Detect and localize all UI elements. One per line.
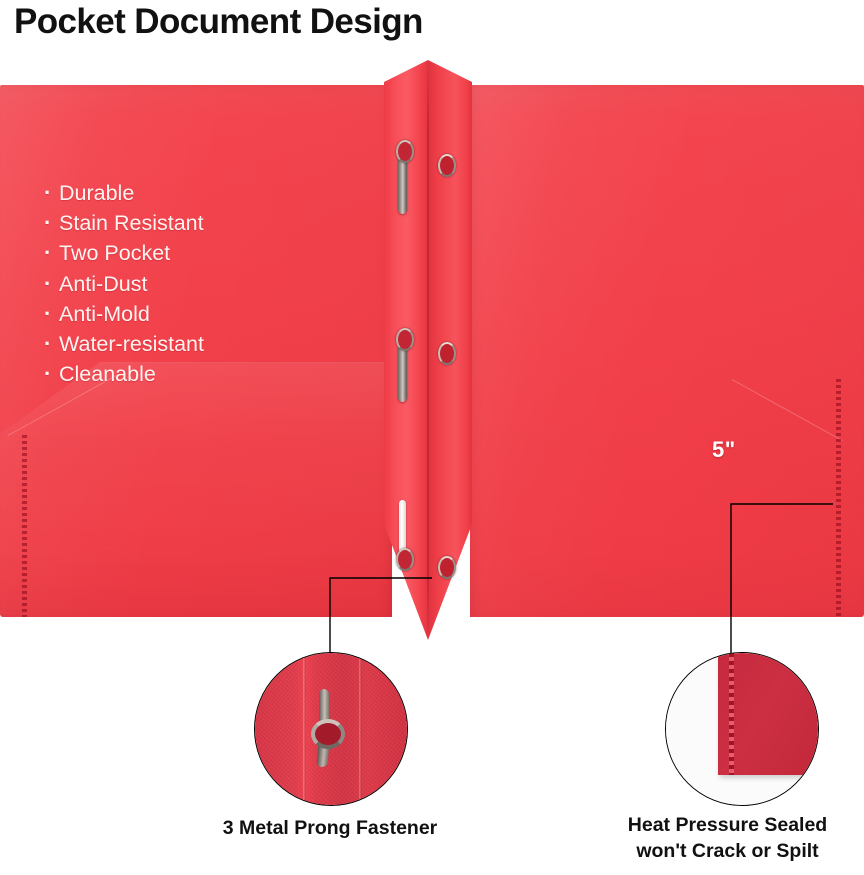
spine-fold-line: [427, 60, 429, 640]
left-pocket: [0, 362, 392, 617]
pocket-depth-label: 5": [712, 437, 736, 463]
feature-item: Anti-Mold: [44, 299, 204, 329]
metal-prong-icon: [315, 689, 332, 767]
folder-illustration: 5" Durable Stain Resistant Two Pocket An…: [0, 60, 864, 640]
feature-item: Two Pocket: [44, 238, 204, 268]
folder-spine: [384, 60, 472, 640]
feature-item: Anti-Dust: [44, 269, 204, 299]
callout-caption-prong: 3 Metal Prong Fastener: [180, 815, 480, 841]
callout-caption-seal-line2: won't Crack or Spilt: [591, 838, 864, 864]
detail-fold-right: [359, 653, 362, 805]
page-title: Pocket Document Design: [14, 2, 423, 42]
feature-item: Durable: [44, 178, 204, 208]
spine-eyelet-icon: [438, 342, 456, 365]
prong-eyelet-icon: [396, 140, 414, 163]
spine-eyelet-icon: [438, 556, 456, 579]
right-panel-sheen: [470, 85, 864, 617]
right-pocket-diagonal-edge: [732, 379, 843, 441]
left-pocket-seal-edge: [22, 435, 27, 617]
folder-right-panel: [470, 85, 864, 617]
detail-circle-seal: [665, 652, 819, 806]
right-pocket-seal-edge: [836, 379, 841, 617]
callout-caption-seal-line1: Heat Pressure Sealed: [591, 812, 864, 838]
prong-ring-icon: [311, 719, 345, 749]
detail-circle-prong: [254, 652, 408, 806]
feature-item: Cleanable: [44, 359, 204, 389]
feature-list: Durable Stain Resistant Two Pocket Anti-…: [44, 178, 204, 389]
prong-eyelet-icon: [396, 328, 414, 351]
heat-seal-stitch-icon: [729, 653, 734, 775]
feature-item: Water-resistant: [44, 329, 204, 359]
feature-item: Stain Resistant: [44, 208, 204, 238]
prong-eyelet-icon: [396, 548, 414, 571]
detail-fold-left: [303, 653, 306, 805]
spine-eyelet-icon: [438, 154, 456, 177]
